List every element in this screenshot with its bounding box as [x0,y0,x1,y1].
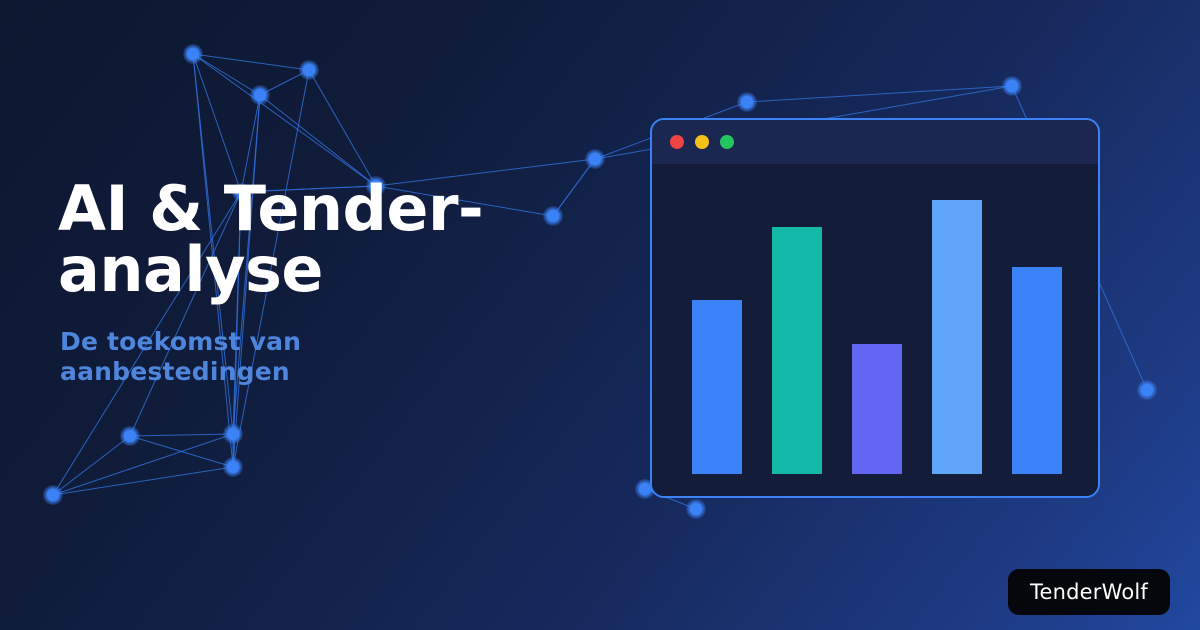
window-maximize-dot[interactable] [720,135,734,149]
network-node [47,489,59,501]
network-edge [193,54,309,70]
network-node [1141,384,1153,396]
chart-bar [932,200,982,474]
network-node-glow [120,426,140,446]
network-edge [193,54,376,186]
network-node-glow [223,457,243,477]
network-edge [53,467,233,495]
window-titlebar [652,120,1098,164]
network-edge [130,436,233,467]
brand-badge: TenderWolf [1008,569,1170,615]
network-edge [193,54,260,95]
network-edge [747,86,1012,102]
chart-bar [772,227,822,474]
network-node-glow [183,44,203,64]
network-edge [130,434,233,436]
network-edge [260,70,309,95]
network-node-glow [299,60,319,80]
page-title: AI & Tender- analyse [58,178,578,301]
chart-bar [692,300,742,474]
network-node-glow [737,92,757,112]
network-node-glow [250,85,270,105]
network-node-glow [686,499,706,519]
page-subtitle: De toekomst van aanbestedingen [60,327,330,388]
network-node-glow [223,424,243,444]
bar-chart [652,164,1098,498]
chart-bar [1012,267,1062,474]
network-node [227,461,239,473]
network-node [254,89,266,101]
network-node [690,503,702,515]
network-node [187,48,199,60]
network-node-glow [1137,380,1157,400]
poster-canvas: AI & Tender- analyse De toekomst van aan… [0,0,1200,630]
network-node [1006,80,1018,92]
network-node-glow [1002,76,1022,96]
window-close-dot[interactable] [670,135,684,149]
network-edge [53,434,233,495]
network-node-glow [585,149,605,169]
network-node [227,428,239,440]
headline-block: AI & Tender- analyse De toekomst van aan… [58,178,578,388]
browser-window-mock [650,118,1100,498]
network-node [589,153,601,165]
network-node [303,64,315,76]
network-edge [309,70,376,186]
chart-bar [852,344,902,474]
network-node-glow [43,485,63,505]
network-edge [53,436,130,495]
window-minimize-dot[interactable] [695,135,709,149]
network-node [741,96,753,108]
network-node [124,430,136,442]
